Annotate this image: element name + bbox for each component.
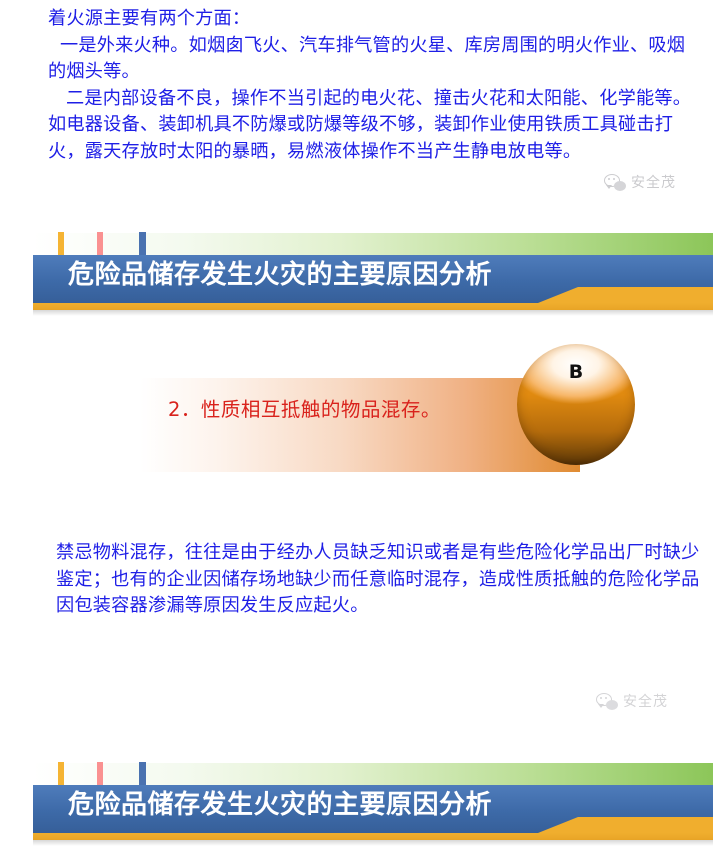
wechat-logo-icon [604,174,626,191]
banner-bar: 危险品储存发生火灾的主要原因分析 [33,785,713,833]
banner-gradient-strip [33,763,713,785]
callout-sphere-label: B [517,361,635,383]
banner-bar: 危险品储存发生火灾的主要原因分析 [33,255,713,303]
banner-bottom-shadow [33,840,713,846]
banner-bottom-shadow [33,310,713,316]
banner-bottom-strip [33,833,713,840]
watermark: 安全茂 [596,691,668,711]
section-banner: 危险品储存发生火灾的主要原因分析 [33,229,713,321]
intro-paragraph: 着火源主要有两个方面： 一是外来火种。如烟囱飞火、汽车排气管的火星、库房周围的明… [48,6,700,165]
banner-title: 危险品储存发生火灾的主要原因分析 [68,785,492,825]
callout-band: 2．性质相互抵触的物品混存。 [140,378,580,472]
callout-band-fill [140,378,580,472]
callout-sphere: B [517,344,635,465]
banner-title: 危险品储存发生火灾的主要原因分析 [68,255,492,295]
section-banner: 危险品储存发生火灾的主要原因分析 [33,759,713,851]
watermark-label: 安全茂 [623,691,668,711]
watermark: 安全茂 [604,172,676,192]
banner-gradient-strip [33,233,713,255]
wechat-logo-icon [596,693,618,710]
callout-text: 2．性质相互抵触的物品混存。 [168,395,498,425]
banner-bottom-strip [33,303,713,310]
body-paragraph: 禁忌物料混存，往往是由于经办人员缺乏知识或者是有些危险化学品出厂时缺少鉴定；也有… [56,540,701,620]
watermark-label: 安全茂 [631,172,676,192]
